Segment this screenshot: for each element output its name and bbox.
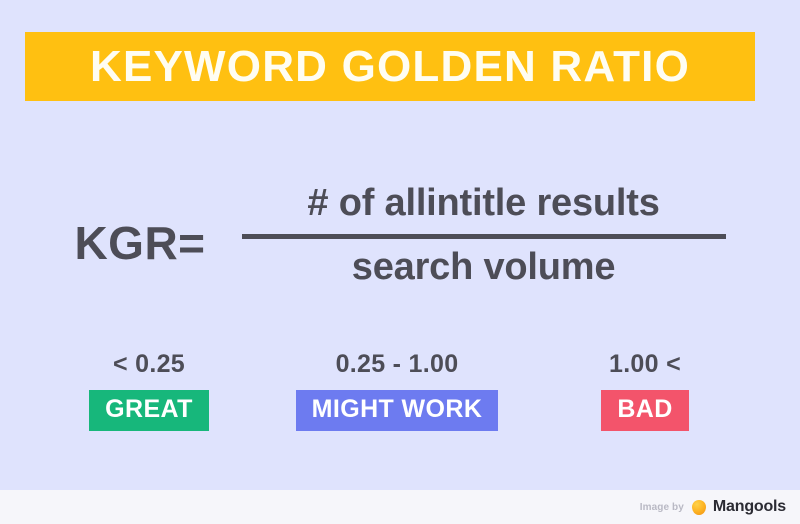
verdict-item-great: < 0.25 GREAT (46, 352, 252, 431)
verdict-item-bad: 1.00 < BAD (542, 352, 748, 431)
verdict-item-might-work: 0.25 - 1.00 MIGHT WORK (252, 352, 542, 431)
footer-credit-bar: Image by Mangools (0, 490, 800, 524)
verdict-range-label: 0.25 - 1.00 (336, 352, 459, 377)
status-badge-great: GREAT (89, 390, 209, 431)
footer-credit-label: Image by (640, 502, 684, 513)
mango-icon (692, 500, 706, 515)
formula-fraction: # of allintitle results search volume (242, 183, 726, 288)
status-badge-bad: BAD (601, 390, 688, 431)
formula-denominator: search volume (352, 247, 616, 288)
status-badge-might-work: MIGHT WORK (296, 390, 499, 431)
infographic-canvas: KEYWORD GOLDEN RATIO KGR= # of allintitl… (0, 0, 800, 524)
formula-numerator: # of allintitle results (307, 183, 659, 224)
fraction-divider-line (242, 234, 726, 239)
verdict-range-label: 1.00 < (609, 352, 681, 377)
title-banner: KEYWORD GOLDEN RATIO (25, 32, 755, 101)
kgr-formula: KGR= # of allintitle results search volu… (0, 168, 800, 303)
verdict-range-label: < 0.25 (113, 352, 185, 377)
formula-left-label: KGR= (74, 216, 205, 270)
brand-name: Mangools (713, 498, 786, 516)
verdict-legend: < 0.25 GREAT 0.25 - 1.00 MIGHT WORK 1.00… (0, 352, 800, 431)
page-title: KEYWORD GOLDEN RATIO (90, 45, 690, 89)
